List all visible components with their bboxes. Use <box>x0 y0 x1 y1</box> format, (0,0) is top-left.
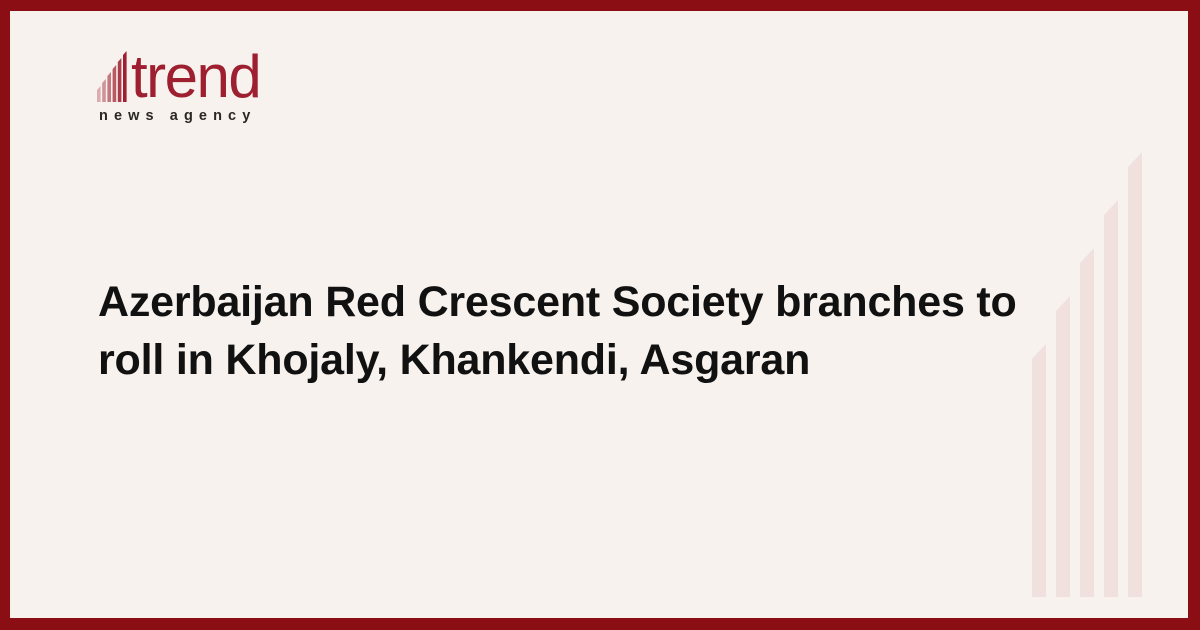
news-share-card: trend news agency Azerbaijan Red Crescen… <box>0 0 1200 630</box>
trend-logo[interactable]: trend news agency <box>96 44 356 124</box>
logo-wordmark-row: trend <box>96 44 356 106</box>
ascending-bars-icon <box>96 50 130 102</box>
page-title: Azerbaijan Red Crescent Society branches… <box>98 273 1048 389</box>
logo-tagline: news agency <box>99 108 356 124</box>
card-canvas: trend news agency Azerbaijan Red Crescen… <box>10 11 1188 618</box>
logo-wordmark-text: trend <box>131 48 260 106</box>
